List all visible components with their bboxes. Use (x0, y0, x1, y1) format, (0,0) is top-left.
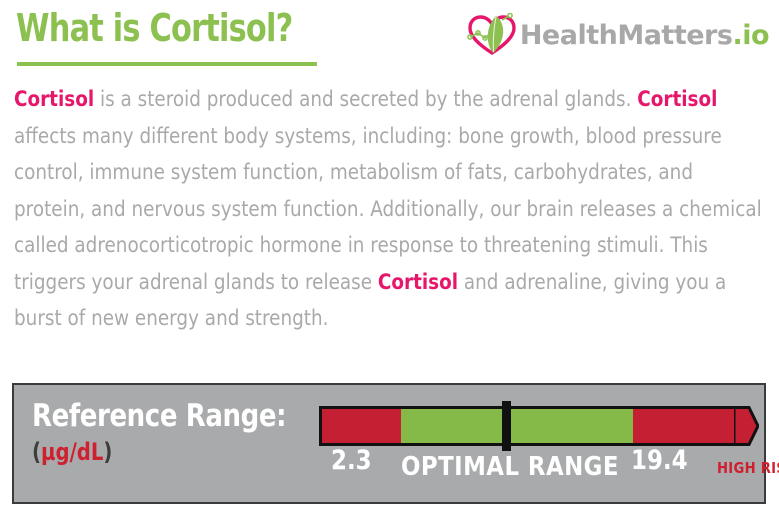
reference-range-panel: Reference Range: (µg/dL) 2.3 OPTIMAL RAN… (12, 383, 766, 504)
title-underline (17, 62, 317, 66)
bar-segment-optimal (401, 409, 633, 443)
brand-name: HealthMatters (520, 20, 733, 51)
description-paragraph: Cortisol is a steroid produced and secre… (14, 82, 762, 338)
reference-range-bar (319, 406, 752, 446)
current-value-marker (502, 401, 511, 451)
unit-paren-open: ( (32, 438, 41, 466)
reference-range-unit: (µg/dL) (32, 438, 112, 466)
unit-paren-close: ) (103, 438, 112, 466)
brand-tld: .io (732, 20, 769, 51)
bar-labels: 2.3 OPTIMAL RANGE 19.4 HIGH RISK (319, 445, 759, 490)
label-low-bound: 2.3 (331, 445, 372, 476)
keyword-cortisol: Cortisol (637, 87, 717, 112)
brand-logo[interactable]: HealthMatters.io (466, 12, 769, 58)
reference-range-title: Reference Range: (32, 398, 286, 434)
label-optimal-range: OPTIMAL RANGE (401, 452, 619, 482)
keyword-cortisol: Cortisol (14, 87, 94, 112)
label-high-bound: 19.4 (631, 445, 688, 476)
unit-value: µg/dL (41, 438, 103, 466)
keyword-cortisol: Cortisol (378, 270, 458, 295)
bar-segment-high-risk (633, 409, 737, 443)
label-high-risk: HIGH RISK (717, 459, 779, 477)
bar-segment-low-risk (322, 409, 401, 443)
paragraph-text-run: is a steroid produced and secreted by th… (94, 87, 637, 112)
brand-wordmark: HealthMatters.io (520, 20, 769, 51)
bar-arrow-tip (734, 406, 759, 446)
heart-leaf-logo-icon (466, 13, 518, 57)
page-title: What is Cortisol? (16, 6, 292, 50)
header: What is Cortisol? H (0, 0, 779, 78)
bar-track (319, 406, 737, 446)
infographic-page: What is Cortisol? H (0, 0, 779, 518)
